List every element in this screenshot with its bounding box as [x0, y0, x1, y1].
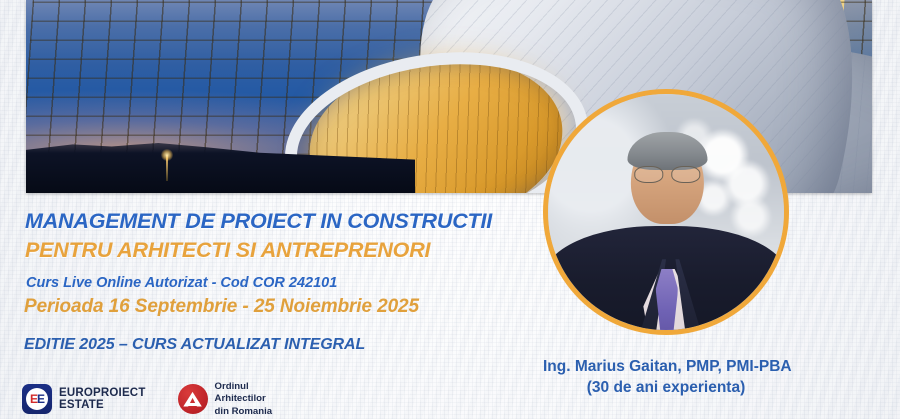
- oar-line-2: Arhitectilor: [215, 393, 273, 405]
- oar-line-1: Ordinul: [215, 381, 273, 393]
- oar-wordmark: Ordinul Arhitectilor din Romania: [215, 381, 273, 418]
- logo-ordinul-arhitectilor[interactable]: Ordinul Arhitectilor din Romania: [178, 381, 273, 418]
- logo-europroiect-estate[interactable]: EE EUROPROIECT ESTATE: [22, 384, 146, 414]
- oar-arch-icon: [178, 384, 208, 414]
- partner-logos: EE EUROPROIECT ESTATE Ordinul Arhitectil…: [22, 381, 272, 418]
- oar-letter-a-crossbar: [187, 403, 198, 406]
- europroiect-monogram-icon: EE: [22, 384, 52, 414]
- glasses-icon: [634, 166, 700, 181]
- course-edition-text: EDITIE 2025 – CURS ACTUALIZAT INTEGRAL: [24, 336, 365, 354]
- page-title-line-2: PENTRU ARHITECTI SI ANTREPRENORI: [25, 238, 430, 263]
- ee-letter-2: E: [37, 393, 44, 405]
- presenter-name-text: Ing. Marius Gaitan, PMP, PMI-PBA: [543, 358, 789, 376]
- course-period-text: Perioada 16 Septembrie - 25 Noiembrie 20…: [24, 296, 419, 318]
- oar-line-3: din Romania: [215, 406, 273, 418]
- course-promo-banner: MANAGEMENT DE PROIECT IN CONSTRUCTII PEN…: [0, 0, 900, 419]
- europroiect-wordmark: EUROPROIECT ESTATE: [59, 387, 146, 413]
- ee-letter-1: E: [30, 393, 37, 405]
- europroiect-line-1: EUROPROIECT: [59, 387, 146, 400]
- presenter-portrait: [543, 89, 789, 335]
- europroiect-line-2: ESTATE: [59, 399, 146, 412]
- presenter-experience-text: (30 de ani experienta): [543, 379, 789, 397]
- page-title-line-1: MANAGEMENT DE PROIECT IN CONSTRUCTII: [25, 209, 492, 234]
- course-code-text: Curs Live Online Autorizat - Cod COR 242…: [26, 275, 337, 291]
- ee-disc: EE: [26, 388, 48, 410]
- street-lamp-light: [166, 155, 168, 181]
